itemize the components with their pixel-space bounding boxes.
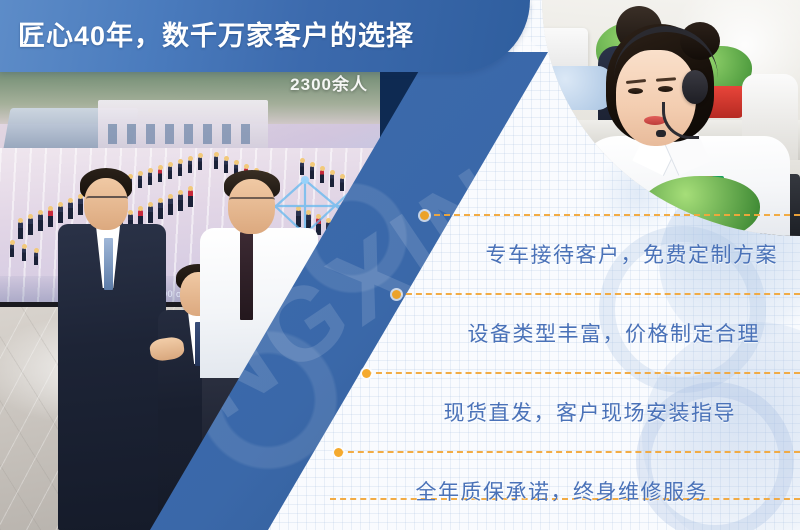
feature-list: 专车接待客户，免费定制方案 设备类型丰富，价格制定合理 现货直发，客户现场安装指… — [330, 214, 800, 530]
headset-mic-icon — [656, 130, 666, 137]
feature-item-1: 专车接待客户，免费定制方案 — [330, 214, 800, 293]
feature-label: 设备类型丰富，价格制定合理 — [330, 318, 760, 348]
feature-label: 现货直发，客户现场安装指导 — [330, 397, 736, 427]
feature-item-4: 全年质保承诺，终身维修服务 — [330, 451, 800, 530]
header-bar: 匠心40年，数千万家客户的选择 — [0, 0, 530, 72]
feature-item-2: 设备类型丰富，价格制定合理 — [330, 293, 800, 372]
feature-label: 专车接待客户，免费定制方案 — [330, 239, 778, 269]
feature-label: 全年质保承诺，终身维修服务 — [330, 476, 708, 506]
promo-banner: ONGXING — [0, 0, 800, 530]
feature-item-3: 现货直发，客户现场安装指导 — [330, 372, 800, 451]
headset-earcup-icon — [682, 70, 708, 104]
screen-headline: 2300余人 — [290, 70, 368, 95]
page-title: 匠心40年，数千万家客户的选择 — [18, 23, 414, 50]
